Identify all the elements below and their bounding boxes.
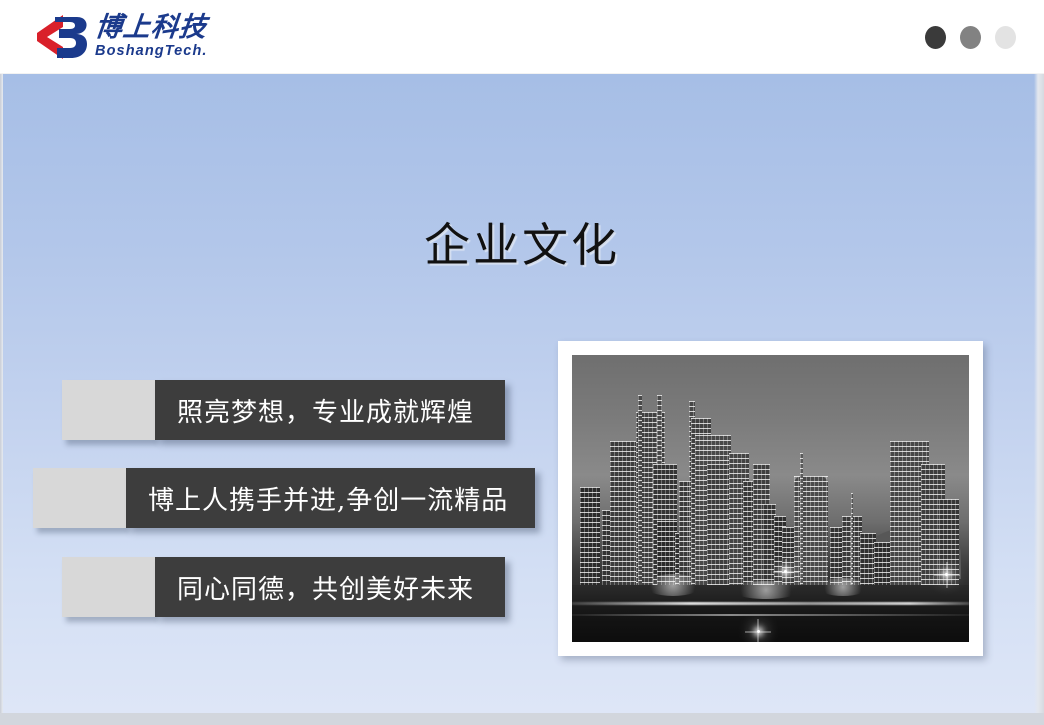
slogan-text-2: 博上人携手并进,争创一流精品 [126, 468, 535, 528]
slogan-accent-block [62, 380, 155, 440]
slogan-accent-block [62, 557, 155, 617]
slogan-bar-3: 同心同德，共创美好未来 [62, 557, 505, 617]
page-title: 企业文化 [0, 209, 1044, 275]
slide-bottom-edge [0, 713, 1044, 725]
slogan-bar-1: 照亮梦想，专业成就辉煌 [62, 380, 505, 440]
dot-mid-icon [960, 26, 981, 49]
slogan-text-1: 照亮梦想，专业成就辉煌 [155, 380, 505, 440]
logo-wordmark: 博上科技 BoshangTech. [95, 14, 208, 59]
slogan-bar-2: 博上人携手并进,争创一流精品 [33, 468, 535, 528]
dot-dark-icon [925, 26, 946, 49]
slide-right-edge [1034, 74, 1044, 713]
company-logo: 博上科技 BoshangTech. [33, 11, 208, 63]
presentation-slide: 博上科技 BoshangTech. 企业文化 照亮梦想，专业成就辉煌 博上人携手… [0, 0, 1044, 725]
slide-header: 博上科技 BoshangTech. [0, 0, 1044, 74]
logo-chinese-name: 博上科技 [94, 14, 210, 42]
city-night-skyline-photo [572, 355, 969, 642]
slogan-accent-block [33, 468, 126, 528]
logo-english-name: BoshangTech. [95, 44, 208, 60]
boshang-b-logo-icon [33, 11, 89, 63]
photo-light-streak-2 [572, 614, 969, 616]
dot-light-icon [995, 26, 1016, 49]
slide-body: 企业文化 照亮梦想，专业成就辉煌 博上人携手并进,争创一流精品 同心同德，共创美… [0, 74, 1044, 713]
photo-frame [558, 341, 983, 656]
photo-light-streak [572, 602, 969, 605]
slide-left-edge [0, 74, 3, 713]
header-dot-indicators [925, 26, 1016, 49]
slogan-text-3: 同心同德，共创美好未来 [155, 557, 505, 617]
